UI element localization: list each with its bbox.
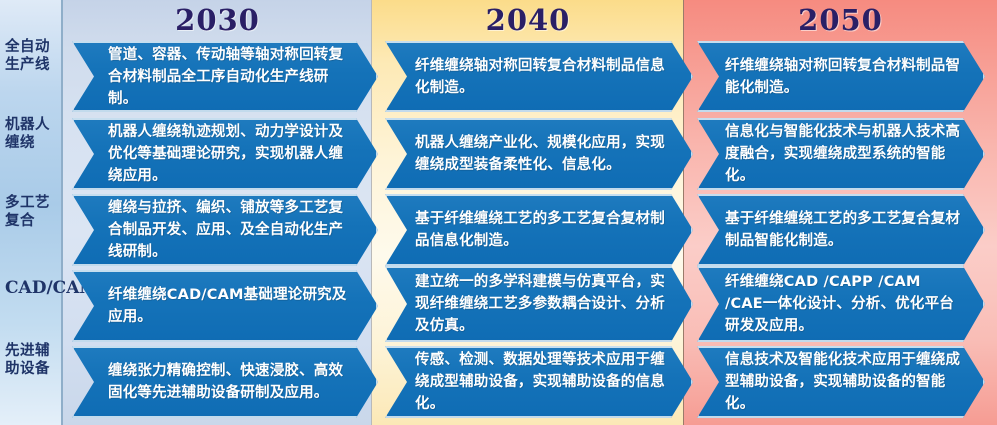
milestone-row5-2040[interactable]: 传感、检测、数据处理等技术应用于缠绕成型辅助设备，实现辅助设备的信息化。 bbox=[385, 346, 693, 418]
milestone-row5-2050[interactable]: 信息技术及智能化技术应用于缠绕成型辅助设备，实现辅助设备的智能化。 bbox=[697, 346, 985, 418]
milestone-row3-2040[interactable]: 基于纤维缠绕工艺的多工艺复合复材制品信息化制造。 bbox=[385, 194, 693, 266]
milestone-row1-2030[interactable]: 管道、容器、传动轴等轴对称回转复合材料制品全工序自动化生产线研制。 bbox=[72, 41, 378, 112]
sidebar-label-row-5: 先进辅助设备 bbox=[2, 342, 61, 378]
milestone-text: 建立统一的多学科建模与仿真平台，实现纤维缠绕工艺多参数耦合设计、分析及仿真。 bbox=[385, 271, 693, 337]
milestone-text: 管道、容器、传动轴等轴对称回转复合材料制品全工序自动化生产线研制。 bbox=[72, 44, 378, 110]
milestone-text: 基于纤维缠绕工艺的多工艺复合复材制品信息化制造。 bbox=[385, 208, 693, 252]
era-header-2050: 2050 bbox=[684, 0, 997, 40]
milestone-row4-2050[interactable]: 纤维缠绕CAD /CAPP /CAM /CAE一体化设计、分析、优化平台研发及应… bbox=[697, 266, 985, 342]
milestone-text: 纤维缠绕CAD /CAPP /CAM /CAE一体化设计、分析、优化平台研发及应… bbox=[697, 271, 985, 337]
milestone-text: 缠绕张力精确控制、快速浸胶、高效固化等先进辅助设备研制及应用。 bbox=[72, 360, 378, 404]
roadmap-container: 2030 2040 2050 全自动生产线 机器人缠绕 多工艺复合 CAD/CA… bbox=[0, 0, 997, 425]
milestone-row1-2050[interactable]: 纤维缠绕轴对称回转复合材料制品智能化制造。 bbox=[697, 41, 985, 112]
milestone-text: 传感、检测、数据处理等技术应用于缠绕成型辅助设备，实现辅助设备的信息化。 bbox=[385, 349, 693, 415]
milestone-text: 缠绕与拉挤、编织、铺放等多工艺复合制品开发、应用、及全自动化生产线研制。 bbox=[72, 197, 378, 263]
milestone-text: 基于纤维缠绕工艺的多工艺复合复材制品智能化制造。 bbox=[697, 208, 985, 252]
milestone-text: 纤维缠绕轴对称回转复合材料制品智能化制造。 bbox=[697, 55, 985, 99]
milestone-text: 机器人缠绕产业化、规模化应用，实现缠绕成型装备柔性化、信息化。 bbox=[385, 132, 693, 176]
milestone-row1-2040[interactable]: 纤维缠绕轴对称回转复合材料制品信息化制造。 bbox=[385, 41, 693, 112]
sidebar-label-row-3: 多工艺复合 bbox=[2, 194, 61, 230]
milestone-text: 纤维缠绕轴对称回转复合材料制品信息化制造。 bbox=[385, 55, 693, 99]
milestone-text: 信息化与智能化技术与机器人技术高度融合，实现缠绕成型系统的智能化。 bbox=[697, 121, 985, 187]
sidebar-label-row-4: CAD/CAM bbox=[2, 278, 61, 298]
era-header-2030: 2030 bbox=[63, 0, 372, 40]
milestone-row4-2040[interactable]: 建立统一的多学科建模与仿真平台，实现纤维缠绕工艺多参数耦合设计、分析及仿真。 bbox=[385, 266, 693, 342]
milestone-text: 机器人缠绕轨迹规划、动力学设计及优化等基础理论研究，实现机器人缠绕应用。 bbox=[72, 121, 378, 187]
milestone-row2-2030[interactable]: 机器人缠绕轨迹规划、动力学设计及优化等基础理论研究，实现机器人缠绕应用。 bbox=[72, 118, 378, 190]
milestone-row2-2040[interactable]: 机器人缠绕产业化、规模化应用，实现缠绕成型装备柔性化、信息化。 bbox=[385, 118, 693, 190]
milestone-text: 信息技术及智能化技术应用于缠绕成型辅助设备，实现辅助设备的智能化。 bbox=[697, 349, 985, 415]
sidebar-label-row-2: 机器人缠绕 bbox=[2, 116, 61, 152]
milestone-text: 纤维缠绕CAD/CAM基础理论研究及应用。 bbox=[72, 284, 378, 328]
milestone-row3-2050[interactable]: 基于纤维缠绕工艺的多工艺复合复材制品智能化制造。 bbox=[697, 194, 985, 266]
milestone-row5-2030[interactable]: 缠绕张力精确控制、快速浸胶、高效固化等先进辅助设备研制及应用。 bbox=[72, 346, 378, 418]
milestone-row2-2050[interactable]: 信息化与智能化技术与机器人技术高度融合，实现缠绕成型系统的智能化。 bbox=[697, 118, 985, 190]
milestone-row3-2030[interactable]: 缠绕与拉挤、编织、铺放等多工艺复合制品开发、应用、及全自动化生产线研制。 bbox=[72, 194, 378, 266]
milestone-row4-2030[interactable]: 纤维缠绕CAD/CAM基础理论研究及应用。 bbox=[72, 270, 378, 342]
era-header-2040: 2040 bbox=[372, 0, 684, 40]
sidebar-label-row-1: 全自动生产线 bbox=[2, 38, 61, 74]
